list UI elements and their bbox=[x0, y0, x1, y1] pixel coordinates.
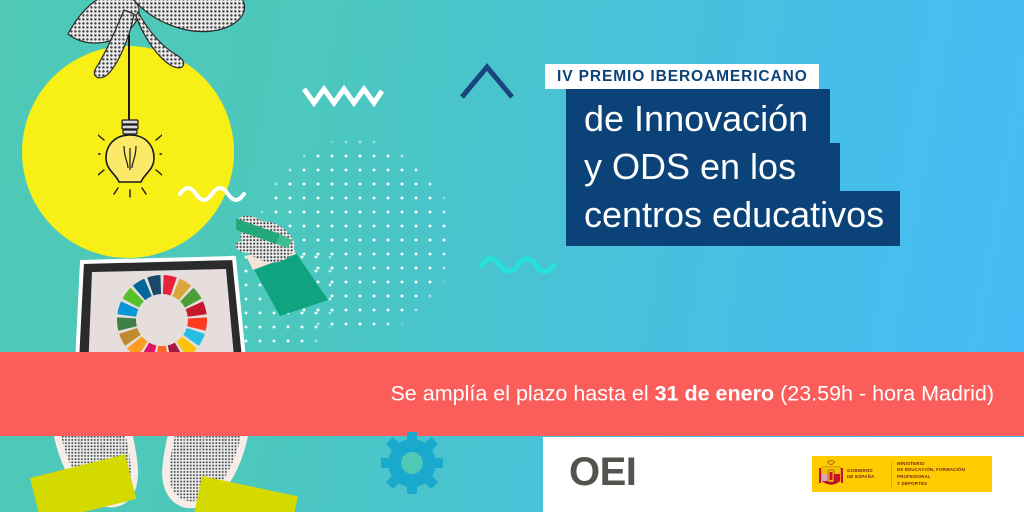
gobierno-line-2: DE ESPAÑA bbox=[847, 474, 889, 480]
halftone-ribbon-decoration bbox=[58, 0, 288, 115]
gear-icon bbox=[381, 432, 443, 499]
promotional-poster: IV PREMIO IBEROAMERICANO de Innovación y… bbox=[0, 0, 1024, 512]
deadline-prefix: Se amplía el plazo hasta el bbox=[390, 382, 654, 406]
ministerio-text: MINISTERIO DE EDUCACIÓN, FORMACIÓN PROFE… bbox=[897, 461, 992, 487]
gobierno-text: GOBIERNO DE ESPAÑA bbox=[847, 468, 889, 481]
deadline-banner: Se amplía el plazo hasta el 31 de enero … bbox=[0, 352, 1024, 436]
gobierno-de-espana-logo: GOBIERNO DE ESPAÑA MINISTERIO DE EDUCACI… bbox=[812, 456, 992, 492]
deadline-message: Se amplía el plazo hasta el 31 de enero … bbox=[390, 382, 994, 407]
oei-logo: OEI bbox=[569, 452, 636, 492]
logo-divider bbox=[891, 461, 892, 487]
kicker-label: IV PREMIO IBEROAMERICANO bbox=[545, 64, 819, 89]
bulb-cord bbox=[128, 35, 130, 127]
coat-of-arms-icon bbox=[818, 459, 844, 489]
ministerio-line-3: Y DEPORTES bbox=[897, 481, 988, 488]
deadline-date: 31 de enero bbox=[655, 382, 775, 406]
ministerio-line-1: MINISTERIO bbox=[897, 461, 988, 468]
zigzag-decoration bbox=[302, 85, 384, 112]
ministerio-line-2: DE EDUCACIÓN, FORMACIÓN PROFESIONAL bbox=[897, 467, 988, 480]
deadline-suffix: (23.59h - hora Madrid) bbox=[774, 382, 994, 406]
headline-line-3: centros educativos bbox=[566, 191, 900, 246]
lightbulb-icon bbox=[98, 118, 162, 203]
headline-block: de Innovación y ODS en los centros educa… bbox=[566, 89, 900, 246]
headline-line-2: y ODS en los bbox=[566, 143, 840, 191]
wave-decoration-cyan bbox=[480, 252, 564, 281]
headline-line-1: de Innovación bbox=[566, 89, 830, 143]
chevron-up-icon bbox=[459, 62, 515, 105]
